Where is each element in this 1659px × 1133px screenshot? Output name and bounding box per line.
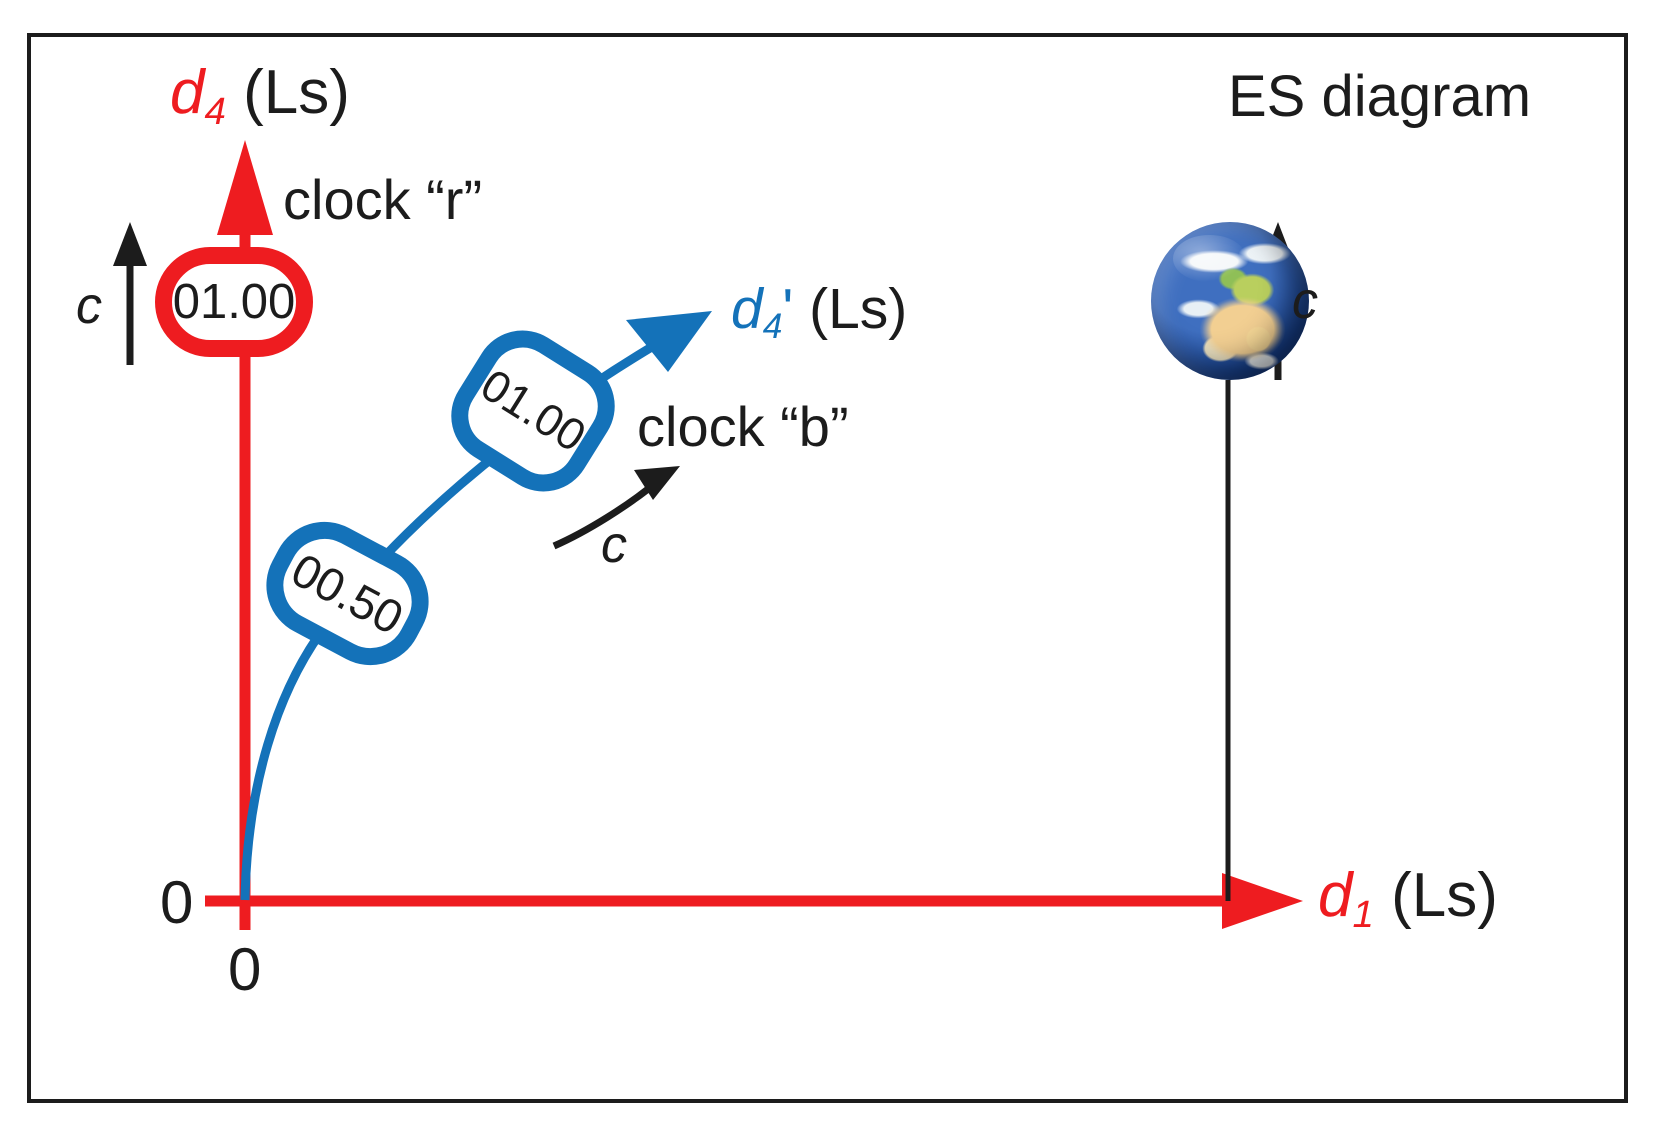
- clock-r-label: clock “r”: [283, 172, 482, 228]
- c-label-right: c: [1292, 275, 1318, 327]
- horizontal-axis-subscript: 1: [1352, 893, 1373, 936]
- rotated-axis-label: d4' (Ls): [731, 281, 907, 338]
- earth-highlight: [1173, 235, 1246, 282]
- rotated-axis-subscript: 4: [763, 307, 783, 346]
- clock-r-readout: 01.00: [155, 247, 313, 357]
- vertical-axis-label: d4 (Ls): [170, 62, 350, 124]
- rotated-axis-prime: ': [782, 277, 793, 341]
- clock-b-lower-value: 00.50: [283, 542, 413, 646]
- earth-globe: [1151, 222, 1309, 380]
- vertical-axis-symbol: d: [170, 58, 204, 127]
- c-label-middle: c: [601, 519, 627, 571]
- vertical-axis-subscript: 4: [204, 90, 225, 133]
- clock-b-upper-value: 01.00: [471, 359, 594, 463]
- horizontal-axis-unit-text: (Ls): [1391, 861, 1498, 930]
- figure-frame: [27, 33, 1628, 1103]
- vertical-axis-unit: [226, 58, 243, 127]
- c-label-left: c: [76, 280, 102, 332]
- rotated-axis-symbol: d: [731, 277, 763, 341]
- clock-r-value: 01.00: [173, 274, 296, 330]
- vertical-axis-origin-label: 0: [160, 873, 193, 933]
- rotated-axis-unit-text: (Ls): [809, 277, 907, 341]
- diagram-canvas: 01.00 01.00 00.50 d4 (Ls) d1 (Ls) d4' (L…: [0, 0, 1659, 1133]
- clock-b-label: clock “b”: [637, 399, 849, 455]
- figure-title: ES diagram: [1228, 68, 1531, 126]
- horizontal-axis-symbol: d: [1318, 861, 1352, 930]
- horizontal-axis-label: d1 (Ls): [1318, 865, 1498, 927]
- vertical-axis-unit-text: (Ls): [243, 58, 350, 127]
- horizontal-axis-origin-label: 0: [228, 940, 261, 1000]
